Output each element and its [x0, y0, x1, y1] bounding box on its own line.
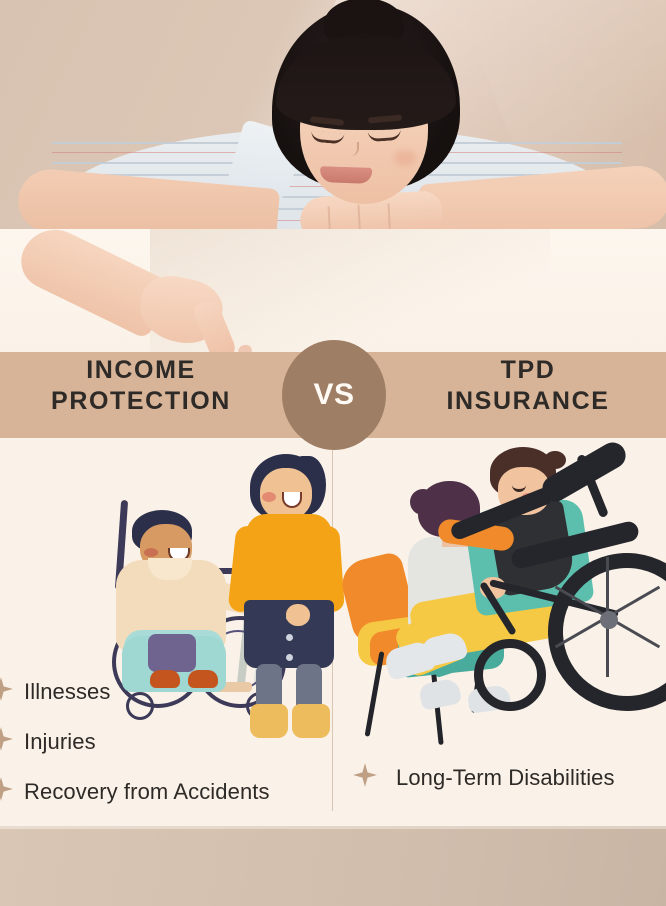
list-item-label: Injuries: [24, 729, 96, 755]
vs-label: VS: [313, 378, 354, 412]
hero-photo: [0, 0, 666, 232]
infographic-page: INCOME PROTECTION TPD INSURANCE VS: [0, 0, 666, 906]
left-title-line2: PROTECTION: [0, 386, 282, 417]
left-benefits-list: Illnesses Injuries Recovery from Acciden…: [0, 676, 320, 826]
cheek-blush: [394, 150, 416, 166]
list-item: Long-Term Disabilities: [352, 762, 666, 793]
vs-badge: VS: [282, 340, 386, 450]
sparkle-icon: [0, 776, 14, 807]
list-item: Recovery from Accidents: [0, 776, 320, 807]
sparkle-icon: [0, 726, 14, 757]
list-item-label: Long-Term Disabilities: [396, 765, 615, 791]
wheelchair-icon: [496, 449, 660, 719]
left-title-line1: INCOME: [0, 355, 282, 386]
right-title-line1: TPD: [390, 355, 666, 386]
list-item-label: Recovery from Accidents: [24, 779, 270, 805]
left-column-title: INCOME PROTECTION: [0, 355, 282, 417]
right-title-line2: INSURANCE: [390, 386, 666, 417]
list-item: Injuries: [0, 726, 320, 757]
bottom-surface-band: [0, 826, 666, 906]
list-item: Illnesses: [0, 676, 320, 707]
sparkle-icon: [352, 762, 378, 793]
right-benefits-list: Long-Term Disabilities: [352, 762, 666, 812]
right-column-title: TPD INSURANCE: [390, 355, 666, 417]
right-illustration: [368, 445, 660, 735]
surface-edge: [0, 826, 666, 829]
standing-woman-figure: [246, 514, 332, 606]
sparkle-icon: [0, 676, 14, 707]
smiling-mouth: [320, 166, 373, 184]
list-item-label: Illnesses: [24, 679, 111, 705]
